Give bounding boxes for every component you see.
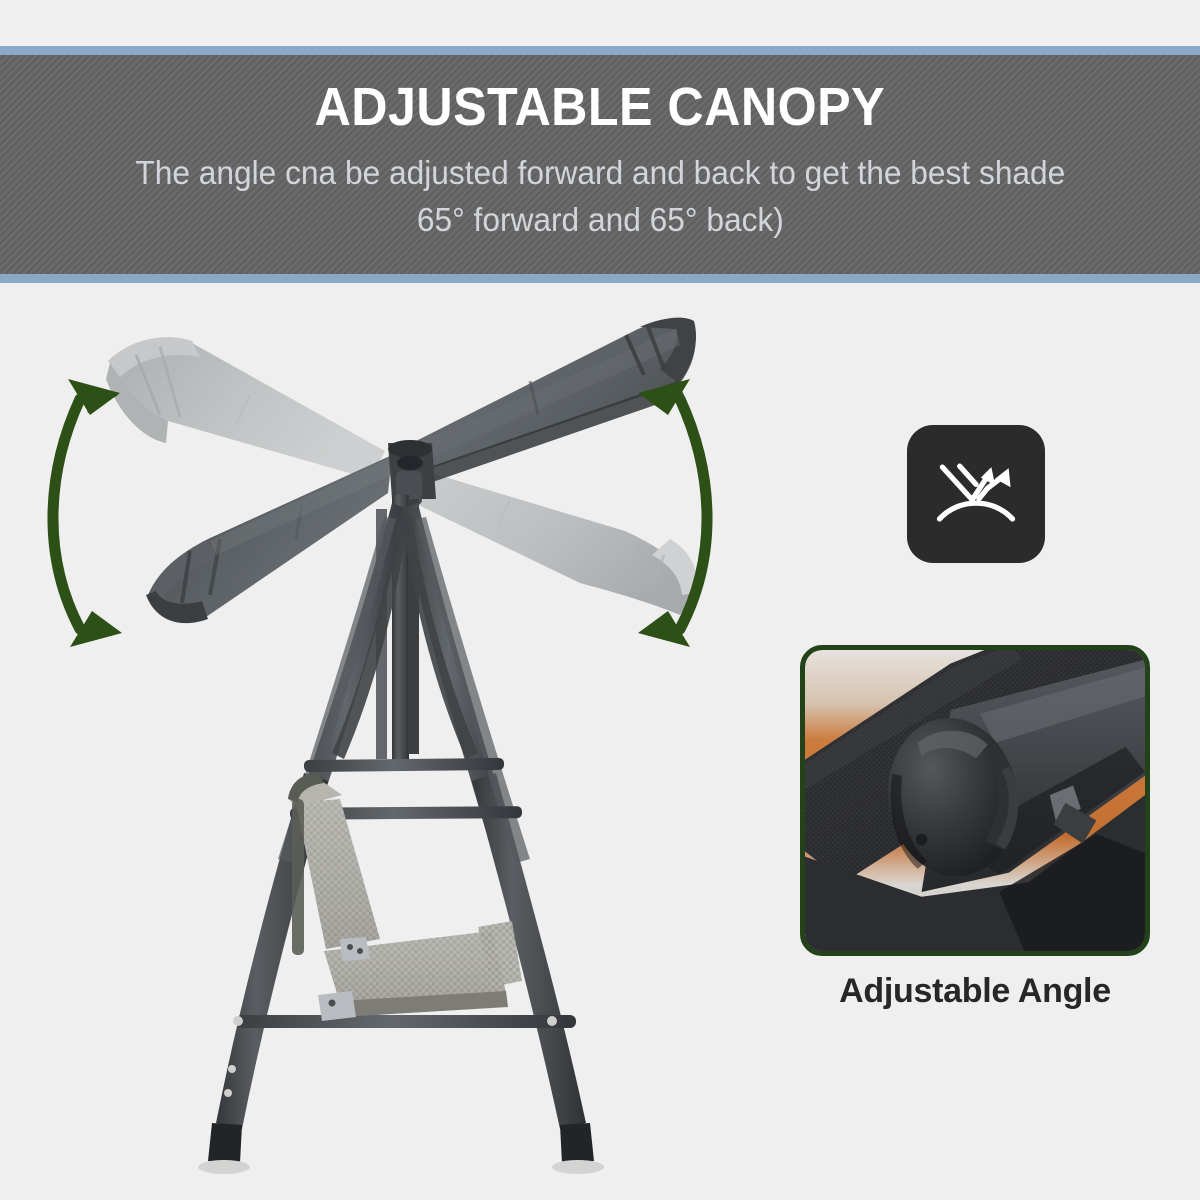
banner-subtitle: The angle cna be adjusted forward and ba… xyxy=(135,149,1065,243)
rotation-arrow-left xyxy=(52,379,122,647)
product-image-canopy-swing xyxy=(40,303,760,1193)
inset-detail-photo xyxy=(800,645,1150,956)
adjustment-knob-closeup xyxy=(805,650,1145,951)
uv-protection-icon xyxy=(928,446,1024,542)
page-title: ADJUSTABLE CANOPY xyxy=(315,78,886,136)
inset-caption: Adjustable Angle xyxy=(800,969,1150,1013)
swing-frame xyxy=(198,495,604,1174)
banner-subtitle-line-1: The angle cna be adjusted forward and ba… xyxy=(135,149,1065,196)
uv-protection-badge xyxy=(907,425,1045,563)
header-banner: ADJUSTABLE CANOPY The angle cna be adjus… xyxy=(0,46,1200,283)
banner-subtitle-line-2: 65° forward and 65° back) xyxy=(135,196,1065,243)
product-stage: Adjustable Angle xyxy=(0,283,1200,1200)
